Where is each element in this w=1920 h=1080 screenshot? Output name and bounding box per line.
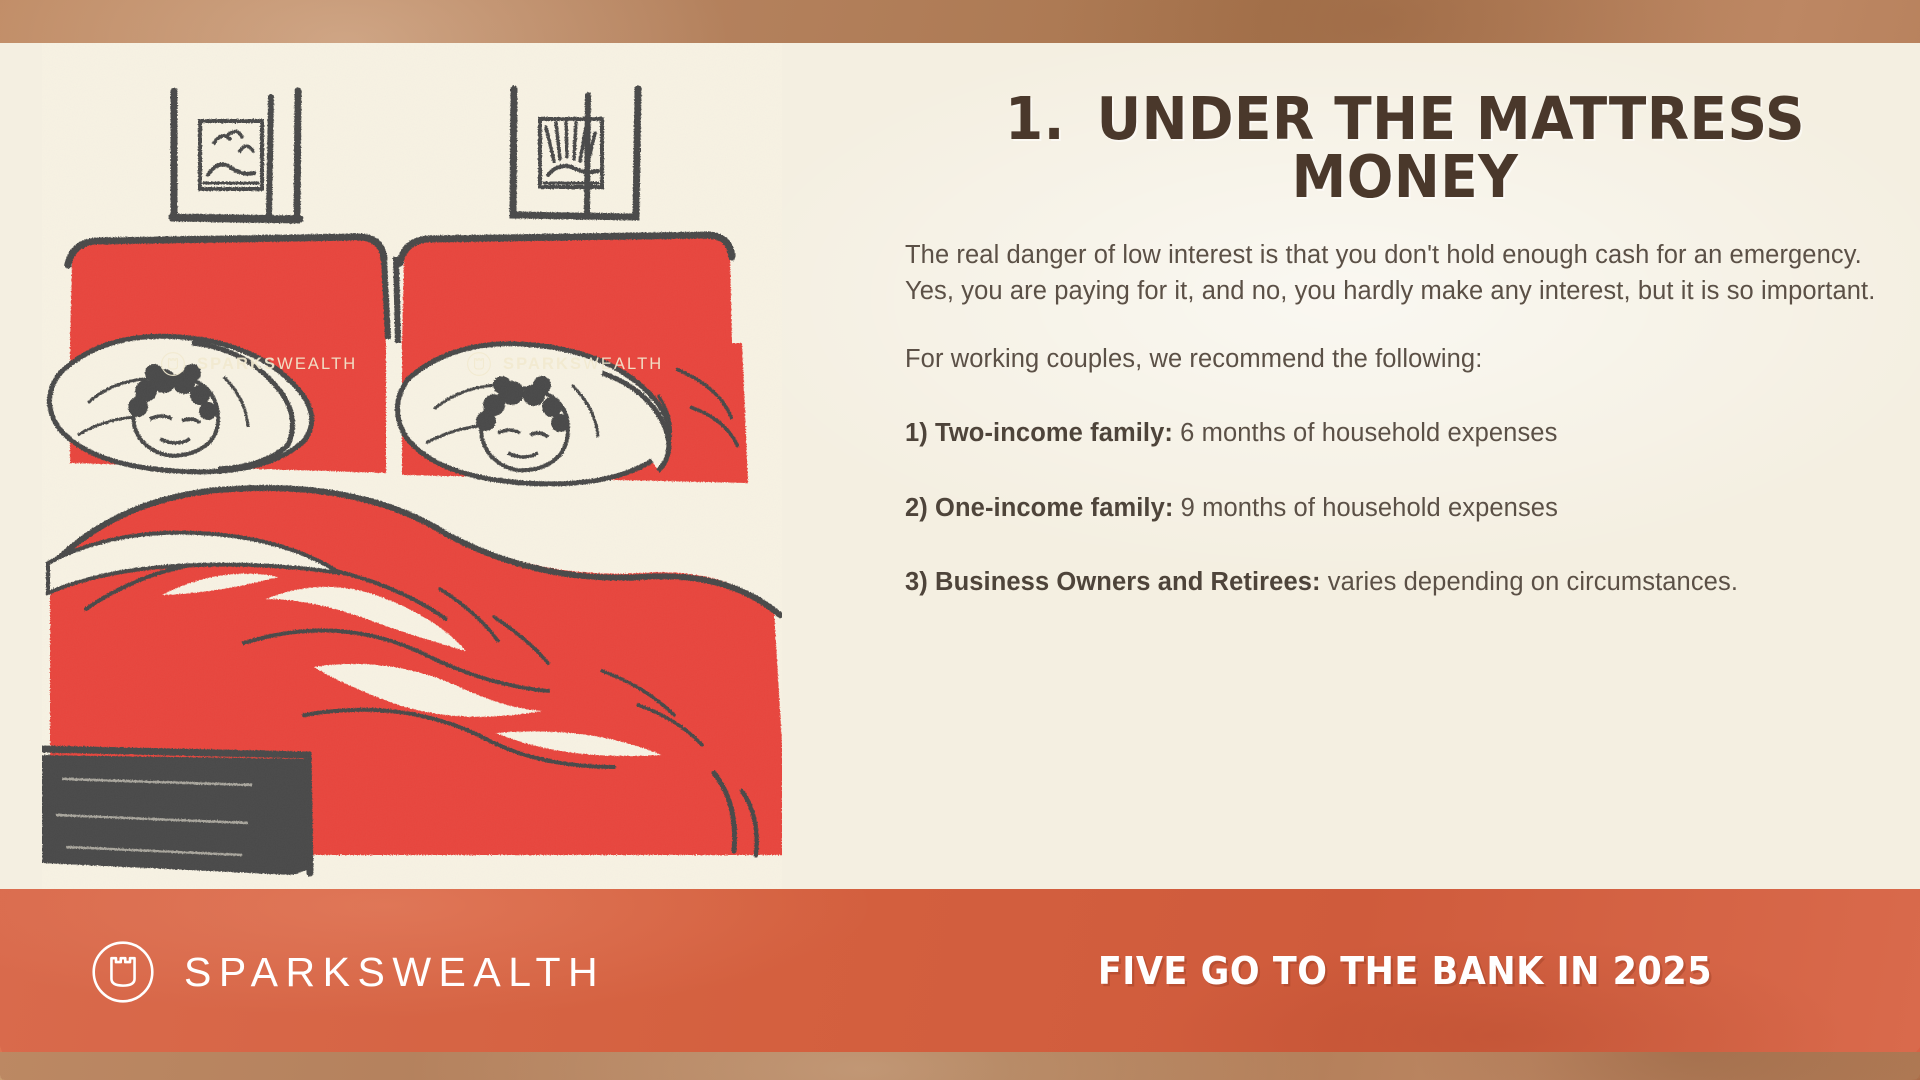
bedroom-illustration — [42, 43, 782, 889]
illustration-panel: SPARKSWEALTH SPARKSWEALTH — [42, 43, 782, 889]
list-item-lead: 2) One-income family: — [905, 494, 1174, 522]
list-item-lead: 1) Two-income family: — [905, 419, 1173, 447]
list-item-rest: varies depending on circumstances. — [1321, 568, 1738, 596]
brand-wordmark: SPARKSWEALTH — [184, 952, 605, 993]
list-item-rest: 6 months of household expenses — [1173, 419, 1557, 447]
paragraph-2: For working couples, we recommend the fo… — [905, 341, 1905, 377]
body-copy: The real danger of low interest is that … — [905, 237, 1905, 601]
footer-banner: SPARKSWEALTH Five go to the bank in 2025 — [0, 889, 1920, 1052]
list-item-rest: 9 months of household expenses — [1174, 494, 1558, 522]
list-item: 1) Two-income family: 6 months of househ… — [905, 415, 1905, 451]
footer-tagline: Five go to the bank in 2025 — [945, 889, 1865, 1052]
page-title: 1.Under the Mattress Money — [940, 43, 1870, 207]
title-text: Under the Mattress Money — [1097, 84, 1805, 211]
paragraph-1: The real danger of low interest is that … — [905, 237, 1905, 310]
poster-slide: SPARKSWEALTH SPARKSWEALTH 1.Under the Ma… — [0, 0, 1920, 1080]
list-item: 2) One-income family: 9 months of househ… — [905, 490, 1905, 526]
text-column: 1.Under the Mattress Money The real dang… — [905, 43, 1905, 889]
sparkswealth-logo-icon — [90, 939, 156, 1005]
title-number: 1. — [1005, 84, 1065, 153]
list-item-lead: 3) Business Owners and Retirees: — [905, 568, 1321, 596]
list-item: 3) Business Owners and Retirees: varies … — [905, 564, 1905, 600]
brand-lockup: SPARKSWEALTH — [90, 939, 605, 1005]
